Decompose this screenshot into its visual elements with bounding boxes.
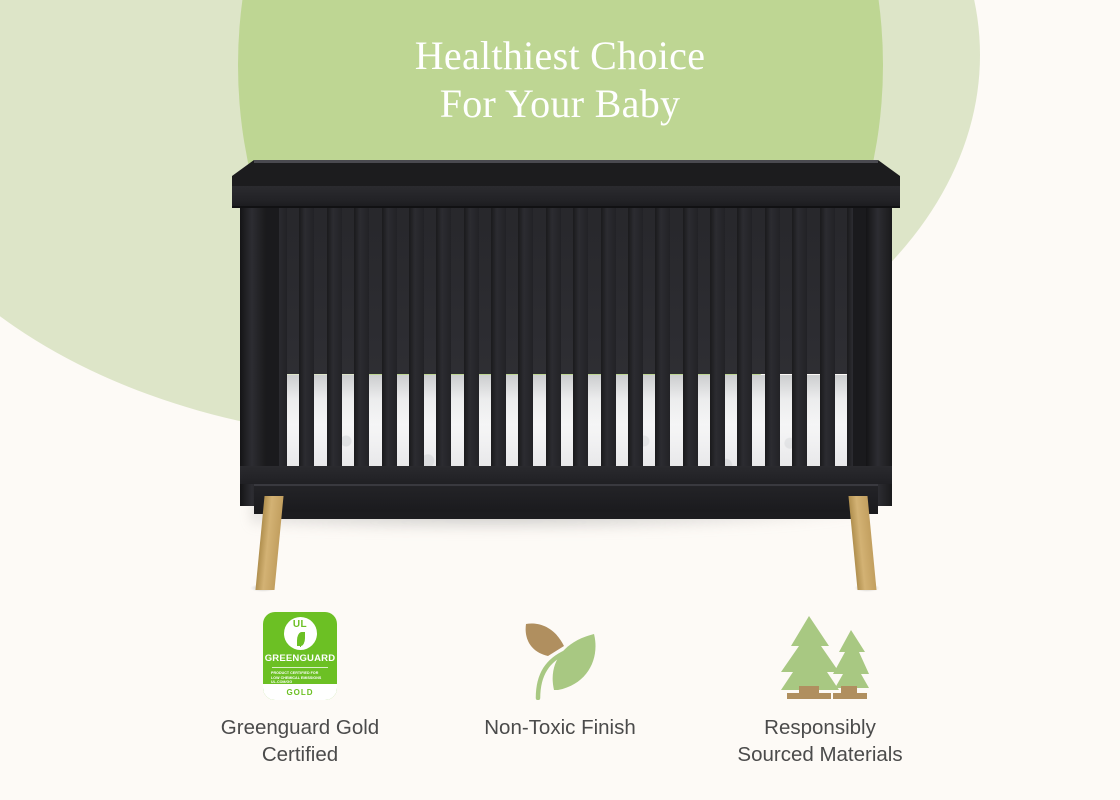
trust-badge-caption: Non-Toxic Finish — [484, 714, 636, 741]
trust-badges-row: UL GREENGUARD PRODUCT CERTIFIED FOR LOW … — [180, 608, 940, 768]
crib-product-image — [232, 160, 900, 610]
caption-line-1: Greenguard Gold — [221, 714, 379, 741]
caption-line-1: Non-Toxic Finish — [484, 714, 636, 741]
crib-inner-post-left — [266, 176, 279, 506]
ul-logo-text: UL — [293, 620, 307, 630]
greenguard-brand-text: GREENGUARD — [265, 653, 336, 664]
page-title: Healthiest Choice For Your Baby — [0, 32, 1120, 128]
headline-line-2: For Your Baby — [0, 80, 1120, 128]
greenguard-level-text: GOLD — [286, 688, 313, 697]
crib-front-slats — [272, 208, 862, 480]
trust-badge-caption: Greenguard Gold Certified — [221, 714, 379, 768]
crib-top-rail-shadow-line — [232, 206, 900, 208]
trust-badge-non-toxic: Non-Toxic Finish — [440, 608, 680, 741]
greenguard-level-band: GOLD — [263, 684, 337, 700]
crib-corner-post-left — [240, 176, 266, 506]
greenguard-divider — [272, 667, 328, 668]
headline-line-1: Healthiest Choice — [415, 33, 706, 78]
trust-badge-greenguard: UL GREENGUARD PRODUCT CERTIFIED FOR LOW … — [180, 608, 420, 768]
caption-line-2: Sourced Materials — [737, 741, 902, 768]
ul-logo-icon: UL — [284, 617, 317, 650]
crib-top-rail-highlight — [254, 160, 878, 163]
crib-inner-post-right — [853, 176, 866, 506]
greenguard-gold-badge-icon: UL GREENGUARD PRODUCT CERTIFIED FOR LOW … — [263, 608, 337, 700]
crib-corner-post-right — [866, 176, 892, 506]
crib-base-panel — [254, 486, 878, 514]
promo-banner: Healthiest Choice For Your Baby — [0, 0, 1120, 800]
caption-line-1: Responsibly — [737, 714, 902, 741]
crib-base-rail — [240, 466, 892, 484]
trust-badge-sourced: Responsibly Sourced Materials — [700, 608, 940, 768]
caption-line-2: Certified — [221, 741, 379, 768]
trees-icon — [765, 608, 875, 700]
leaf-icon — [514, 608, 606, 700]
trust-badge-caption: Responsibly Sourced Materials — [737, 714, 902, 768]
crib-base-foot — [262, 512, 870, 519]
crib-top-rail-face — [232, 186, 900, 208]
